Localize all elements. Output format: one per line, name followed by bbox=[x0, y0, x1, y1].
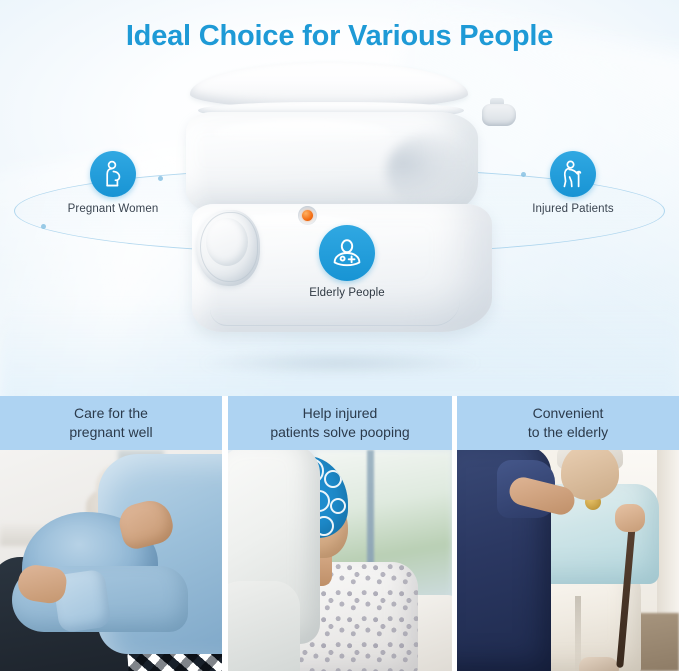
photo-detail bbox=[575, 596, 581, 671]
badge-injured-patients[interactable]: Injured Patients bbox=[513, 151, 633, 215]
page-title: Ideal Choice for Various People bbox=[0, 20, 679, 53]
caption-elderly: Convenient to the elderly bbox=[457, 396, 679, 450]
product-infographic: Ideal Choice for Various People bbox=[0, 0, 679, 671]
photo-hospital-patient bbox=[228, 450, 452, 671]
toilet-bellows-pump bbox=[196, 210, 260, 286]
toilet-vent-knob bbox=[482, 104, 516, 126]
badge-pregnant-women[interactable]: Pregnant Women bbox=[53, 151, 173, 215]
photo-detail bbox=[228, 581, 300, 671]
photo-detail bbox=[579, 657, 619, 671]
caption-injured: Help injured patients solve pooping bbox=[228, 396, 452, 450]
orbit-dot bbox=[41, 224, 46, 229]
highlight bbox=[212, 120, 392, 146]
product-drop-shadow bbox=[200, 352, 480, 374]
photo-detail bbox=[615, 504, 645, 532]
badge-label: Elderly People bbox=[287, 287, 407, 299]
photo-pregnant-woman bbox=[0, 450, 222, 671]
person-with-cane-icon bbox=[550, 151, 596, 197]
photo-strip bbox=[0, 450, 679, 671]
elderly-person-medical-icon bbox=[319, 225, 375, 281]
caption-line-2: to the elderly bbox=[528, 424, 608, 440]
level-indicator-icon bbox=[302, 210, 313, 221]
pregnant-woman-icon bbox=[90, 151, 136, 197]
hero-section: Ideal Choice for Various People bbox=[0, 0, 679, 396]
toilet-upper-tank bbox=[186, 112, 478, 212]
shading bbox=[386, 134, 472, 208]
caption-line-2: patients solve pooping bbox=[270, 424, 409, 440]
caption-line-1: Convenient bbox=[533, 405, 604, 421]
badge-label: Pregnant Women bbox=[53, 203, 173, 215]
caption-line-1: Care for the bbox=[74, 405, 148, 421]
badge-elderly-people[interactable]: Elderly People bbox=[287, 225, 407, 299]
portable-toilet-product-image bbox=[178, 62, 502, 362]
shading bbox=[210, 300, 460, 326]
photo-elderly-assistance bbox=[457, 450, 679, 671]
badge-label: Injured Patients bbox=[513, 203, 633, 215]
caption-line-2: pregnant well bbox=[69, 424, 152, 440]
pump-rim bbox=[200, 212, 258, 282]
caption-pregnant: Care for the pregnant well bbox=[0, 396, 222, 450]
caption-line-1: Help injured bbox=[303, 405, 378, 421]
caption-bar: Care for the pregnant well Help injured … bbox=[0, 396, 679, 450]
